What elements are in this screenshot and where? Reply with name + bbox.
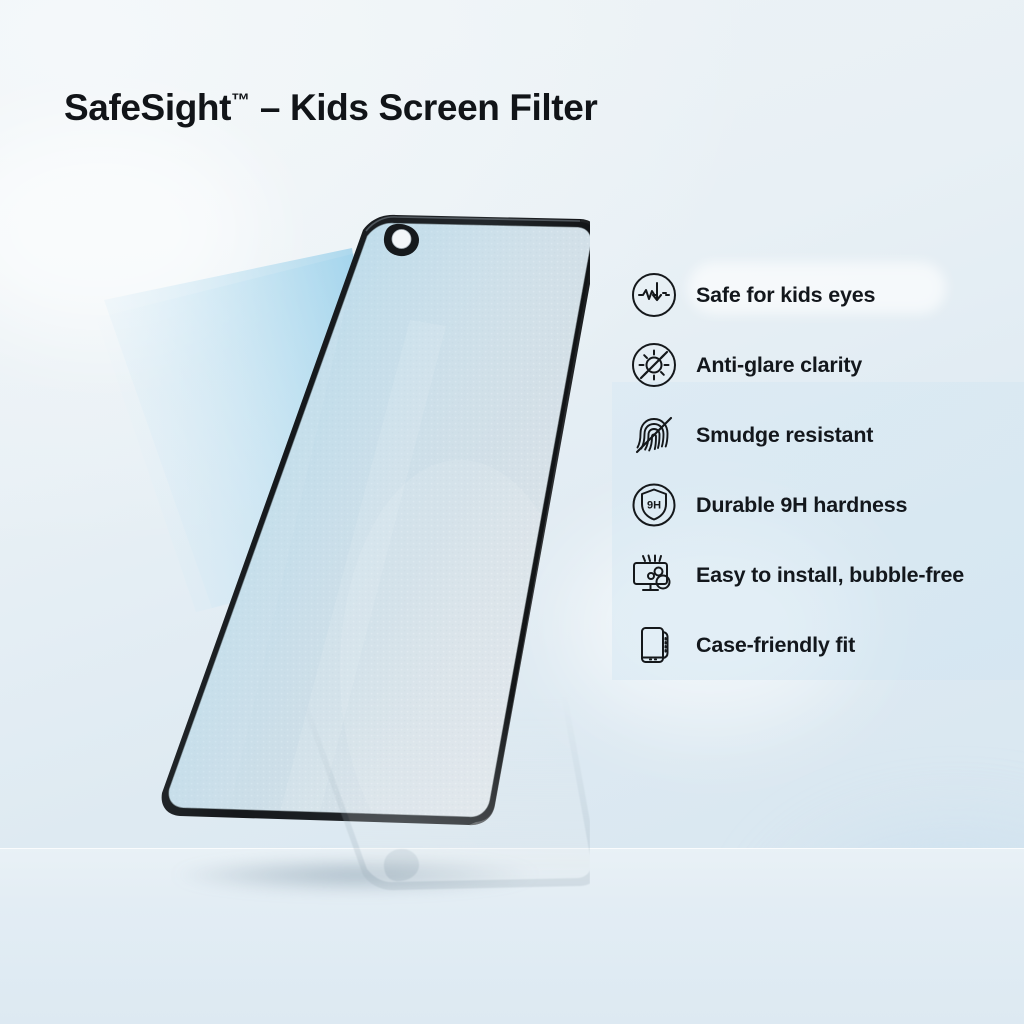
front-camera: [392, 230, 411, 249]
anti-glare-icon: [628, 339, 680, 391]
page-title-subject: – Kids Screen Filter: [250, 87, 597, 128]
bezel-specular: [366, 217, 580, 231]
feature-item-durable-9h-hardness[interactable]: 9H Durable 9H hardness: [628, 470, 1024, 540]
product-shadow: [120, 852, 590, 898]
feature-item-safe-for-kids-eyes[interactable]: Safe for kids eyes: [628, 260, 1024, 330]
smudge-resist-icon: [628, 409, 680, 461]
hardness-badge-text: 9H: [647, 500, 661, 512]
feature-item-anti-glare-clarity[interactable]: Anti-glare clarity: [628, 330, 1024, 400]
feature-item-case-friendly-fit[interactable]: Case-friendly fit: [628, 610, 1024, 680]
trademark-symbol: ™: [231, 90, 250, 111]
feature-label: Smudge resistant: [696, 423, 873, 448]
bubble-free-icon: [628, 549, 680, 601]
feature-label: Case-friendly fit: [696, 633, 855, 658]
feature-label: Safe for kids eyes: [696, 283, 875, 308]
feature-label: Easy to install, bubble-free: [696, 563, 964, 588]
background-blob: [0, 120, 260, 340]
feature-list: Safe for kids eyes Anti-g: [628, 260, 1024, 680]
feature-item-smudge-resistant[interactable]: Smudge resistant: [628, 400, 1024, 470]
page-title: SafeSight™ – Kids Screen Filter: [64, 87, 597, 129]
page-title-brand: SafeSight: [64, 87, 231, 128]
hardness-9h-icon: 9H: [628, 479, 680, 531]
phone-with-protector: [160, 200, 590, 850]
eye-safe-icon: [628, 269, 680, 321]
feature-item-easy-to-install-bubble-free[interactable]: Easy to install, bubble-free: [628, 540, 1024, 610]
feature-label: Anti-glare clarity: [696, 353, 862, 378]
phone-bezel: [162, 215, 590, 825]
horizon-line: [0, 848, 1024, 849]
case-friendly-icon: [628, 619, 680, 671]
feature-label: Durable 9H hardness: [696, 493, 907, 518]
screen-outline: [169, 223, 590, 817]
protector-screen: [160, 200, 590, 850]
glass-edge-highlight: [469, 219, 590, 825]
camera-notch: [384, 224, 419, 256]
product-poster: SafeSight™ – Kids Screen Filter: [0, 0, 1024, 1024]
